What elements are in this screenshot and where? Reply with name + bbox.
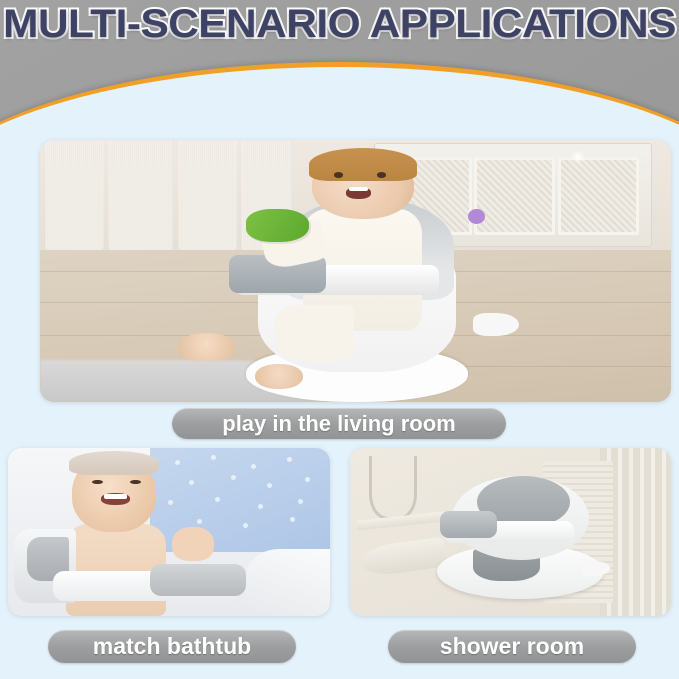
baby-eye [334,172,343,178]
scene-photo-living-room [40,140,671,402]
green-toy [246,209,308,242]
baby-leg [275,305,355,361]
baby-hair [309,148,417,181]
scene-photo-bathtub [8,448,330,616]
baby-eye [377,172,386,178]
curtain-panel [109,140,172,253]
baby-mouth [101,493,130,505]
scene-photo-shower-room [350,448,671,616]
baby-wet-hair [69,451,159,475]
cabinet-door [558,157,639,234]
page-title: MULTI-SCENARIO APPLICATIONS [0,2,679,47]
baby-bath-seat-product [437,468,604,599]
caption-bathtub: match bathtub [48,630,296,663]
baby-foot [178,333,235,361]
baby-hand [172,527,214,561]
baby-foot [255,364,303,389]
seat-side-tab [582,561,610,575]
curtain-panel [46,140,103,253]
bathtub-edge [246,549,330,616]
baby-mouth [346,187,372,198]
shower-accessory [361,536,448,578]
product-infographic: MULTI-SCENARIO APPLICATIONS [0,0,679,679]
seat-bar-gray-pad [150,564,247,596]
baby-in-seat-group [229,148,513,402]
seat-side-tab [473,313,518,336]
caption-living-room: play in the living room [172,408,506,439]
toy-accent [468,209,485,224]
wall-hook [369,456,417,519]
caption-shower-room: shower room [388,630,636,663]
curtain-panel [179,140,236,253]
seat-gray-pad [440,511,497,537]
